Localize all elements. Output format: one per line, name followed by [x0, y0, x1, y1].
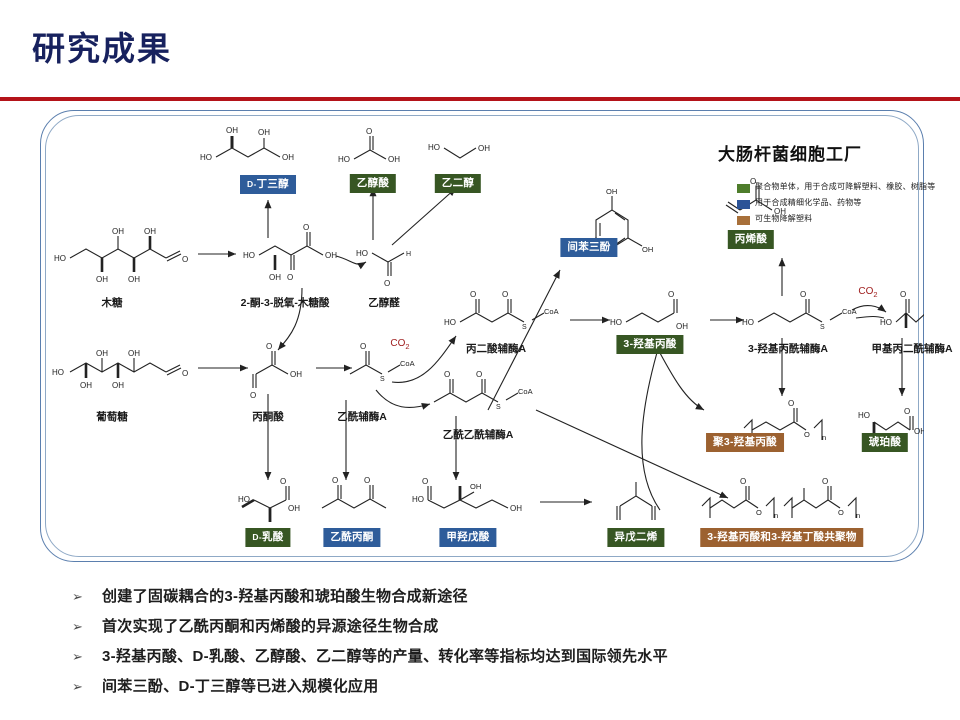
- svg-text:O: O: [740, 477, 746, 486]
- svg-text:O: O: [384, 279, 390, 288]
- label-acetylacetone[interactable]: 乙酰丙酮: [323, 528, 380, 547]
- svg-text:O: O: [756, 508, 762, 517]
- svg-text:OH: OH: [128, 349, 140, 358]
- svg-text:O: O: [287, 273, 293, 282]
- svg-text:O: O: [422, 477, 428, 486]
- svg-text:HO: HO: [444, 318, 456, 327]
- svg-text:S: S: [496, 404, 501, 411]
- svg-text:OH: OH: [80, 381, 92, 390]
- svg-text:HO: HO: [880, 318, 892, 327]
- svg-text:O: O: [668, 290, 674, 299]
- svg-text:OH: OH: [510, 504, 522, 513]
- legend-swatch-blue-icon: [737, 200, 750, 209]
- svg-text:OH: OH: [288, 504, 300, 513]
- label-isoprene[interactable]: 异戊二烯: [607, 528, 664, 547]
- svg-text:OH: OH: [144, 227, 156, 236]
- svg-text:HO: HO: [200, 153, 212, 162]
- list-item: ➢ 3-羟基丙酸、D-乳酸、乙醇酸、乙二醇等的产量、转化率等指标均达到国际领先水…: [72, 646, 942, 668]
- svg-text:O: O: [838, 508, 844, 517]
- label-malonyl-coa: 丙二酸辅酶A: [466, 342, 526, 356]
- label-poly-3-hydroxypropionic-acid[interactable]: 聚3-羟基丙酸: [706, 433, 784, 452]
- label-keto-deoxy-xylonate: 2-酮-3-脱氧-木糖酸: [241, 296, 330, 310]
- svg-text:HO: HO: [858, 411, 870, 420]
- label-ethylene-glycol[interactable]: 乙二醇: [435, 174, 481, 193]
- svg-text:S: S: [820, 324, 825, 331]
- svg-text:OH: OH: [96, 349, 108, 358]
- svg-text:OH: OH: [112, 227, 124, 236]
- label-pyruvate: 丙酮酸: [252, 410, 284, 424]
- svg-text:HO: HO: [243, 251, 255, 260]
- svg-text:S: S: [380, 376, 385, 383]
- svg-text:O: O: [822, 477, 828, 486]
- page-title: 研究成果: [32, 28, 172, 70]
- svg-text:O: O: [800, 290, 806, 299]
- svg-text:HO: HO: [742, 318, 754, 327]
- label-xylose: 木糖: [102, 296, 123, 310]
- bullet-arrow-icon: ➢: [72, 646, 102, 668]
- legend-label: 可生物降解塑料: [755, 214, 812, 224]
- svg-text:O: O: [182, 255, 188, 264]
- svg-text:OH: OH: [128, 275, 140, 284]
- label-d-lactic-acid[interactable]: D-乳酸: [245, 528, 290, 547]
- legend-label: 聚合物单体，用于合成可降解塑料、橡胶、树脂等: [755, 182, 935, 192]
- title-divider: [0, 97, 960, 101]
- label-glucose: 葡萄糖: [96, 410, 128, 424]
- svg-text:OH: OH: [325, 251, 337, 260]
- svg-text:OH: OH: [290, 370, 302, 379]
- label-phloroglucinol[interactable]: 间苯三酚: [560, 238, 617, 257]
- svg-text:O: O: [470, 290, 476, 299]
- list-item-label: 间苯三酚、D-丁三醇等已进入规模化应用: [102, 676, 379, 698]
- svg-text:HO: HO: [54, 254, 66, 263]
- svg-text:O: O: [804, 430, 810, 439]
- svg-text:CoA: CoA: [518, 387, 533, 396]
- svg-text:HO: HO: [52, 368, 64, 377]
- svg-text:n: n: [856, 511, 860, 520]
- svg-text:OH: OH: [282, 153, 294, 162]
- bullet-arrow-icon: ➢: [72, 586, 102, 608]
- svg-text:O: O: [360, 342, 366, 351]
- label-3-hydroxypropionic-acid[interactable]: 3-羟基丙酸: [616, 335, 683, 354]
- svg-text:OH: OH: [606, 187, 617, 196]
- factory-heading: 大肠杆菌细胞工厂: [718, 140, 862, 165]
- svg-text:n: n: [774, 511, 778, 520]
- label-acetyl-coa: 乙酰辅酶A: [337, 410, 387, 424]
- svg-text:O: O: [250, 391, 256, 400]
- svg-text:OH: OH: [388, 155, 400, 164]
- legend-row: 可生物降解塑料: [737, 214, 943, 225]
- svg-text:OH: OH: [914, 427, 924, 436]
- svg-text:OH: OH: [478, 144, 490, 153]
- slide: 研究成果 HO OH OH: [0, 0, 960, 720]
- svg-text:n: n: [822, 433, 826, 442]
- svg-text:S: S: [522, 324, 527, 331]
- svg-text:O: O: [303, 223, 309, 232]
- co2-annotation-acetyl: CO2: [390, 338, 409, 351]
- metabolic-pathway-diagram: HO OH OH OH HO O OH: [40, 110, 924, 562]
- svg-text:CoA: CoA: [400, 359, 415, 368]
- svg-text:HO: HO: [356, 249, 368, 258]
- label-copolymer[interactable]: 3-羟基丙酸和3-羟基丁酸共聚物: [700, 528, 863, 547]
- pathway-graphics: HO OH OH OH HO O OH: [40, 110, 924, 562]
- svg-text:OH: OH: [226, 126, 238, 135]
- list-item-label: 3-羟基丙酸、D-乳酸、乙醇酸、乙二醇等的产量、转化率等指标均达到国际领先水平: [102, 646, 668, 668]
- svg-text:OH: OH: [676, 322, 688, 331]
- legend-swatch-green-icon: [737, 184, 750, 193]
- list-item-label: 首次实现了乙酰丙酮和丙烯酸的异源途径生物合成: [102, 616, 439, 638]
- svg-text:HO: HO: [610, 318, 622, 327]
- conclusion-list: ➢ 创建了固碳耦合的3-羟基丙酸和琥珀酸生物合成新途径 ➢ 首次实现了乙酰丙酮和…: [72, 586, 942, 706]
- svg-text:HO: HO: [428, 143, 440, 152]
- svg-text:O: O: [788, 399, 794, 408]
- svg-text:O: O: [444, 370, 450, 379]
- label-mevalonic-acid[interactable]: 甲羟戊酸: [439, 528, 496, 547]
- label-acetoacetyl-coa: 乙酰乙酰辅酶A: [443, 428, 514, 442]
- svg-text:O: O: [364, 476, 370, 485]
- svg-text:H: H: [406, 251, 411, 258]
- legend-label: 用于合成精细化学品、药物等: [755, 198, 862, 208]
- svg-text:OH: OH: [642, 245, 653, 254]
- label-glycolic-acid[interactable]: 乙醇酸: [350, 174, 396, 193]
- legend: 聚合物单体，用于合成可降解塑料、橡胶、树脂等 用于合成精细化学品、药物等 可生物…: [737, 182, 943, 230]
- svg-text:OH: OH: [470, 482, 481, 491]
- svg-text:O: O: [280, 477, 286, 486]
- list-item-label: 创建了固碳耦合的3-羟基丙酸和琥珀酸生物合成新途径: [102, 586, 468, 608]
- svg-text:O: O: [900, 290, 906, 299]
- svg-text:OH: OH: [269, 273, 281, 282]
- svg-text:HO: HO: [338, 155, 350, 164]
- svg-text:O: O: [476, 370, 482, 379]
- co2-annotation-methylmalonyl: CO2: [858, 286, 877, 299]
- list-item: ➢ 创建了固碳耦合的3-羟基丙酸和琥珀酸生物合成新途径: [72, 586, 942, 608]
- legend-swatch-brown-icon: [737, 216, 750, 225]
- svg-text:OH: OH: [112, 381, 124, 390]
- label-succinic-acid[interactable]: 琥珀酸: [862, 433, 908, 452]
- svg-text:O: O: [904, 407, 910, 416]
- svg-text:O: O: [266, 342, 272, 351]
- svg-text:OH: OH: [96, 275, 108, 284]
- svg-text:O: O: [366, 127, 372, 136]
- svg-text:CoA: CoA: [544, 307, 559, 316]
- list-item: ➢ 间苯三酚、D-丁三醇等已进入规模化应用: [72, 676, 942, 698]
- list-item: ➢ 首次实现了乙酰丙酮和丙烯酸的异源途径生物合成: [72, 616, 942, 638]
- svg-text:HO: HO: [412, 495, 424, 504]
- svg-text:O: O: [502, 290, 508, 299]
- svg-text:O: O: [332, 476, 338, 485]
- svg-text:OH: OH: [258, 128, 270, 137]
- bullet-arrow-icon: ➢: [72, 616, 102, 638]
- legend-row: 聚合物单体，用于合成可降解塑料、橡胶、树脂等: [737, 182, 943, 193]
- label-3-hydroxypropionyl-coa: 3-羟基丙酰辅酶A: [748, 342, 828, 356]
- label-d-butanetriol[interactable]: D-丁三醇: [240, 175, 296, 194]
- bullet-arrow-icon: ➢: [72, 676, 102, 698]
- label-methylmalonyl-coa: 甲基丙二酰辅酶A: [871, 342, 952, 356]
- legend-row: 用于合成精细化学品、药物等: [737, 198, 943, 209]
- label-acrylic-acid[interactable]: 丙烯酸: [728, 230, 774, 249]
- label-glycolaldehyde: 乙醇醛: [368, 296, 400, 310]
- svg-text:O: O: [182, 369, 188, 378]
